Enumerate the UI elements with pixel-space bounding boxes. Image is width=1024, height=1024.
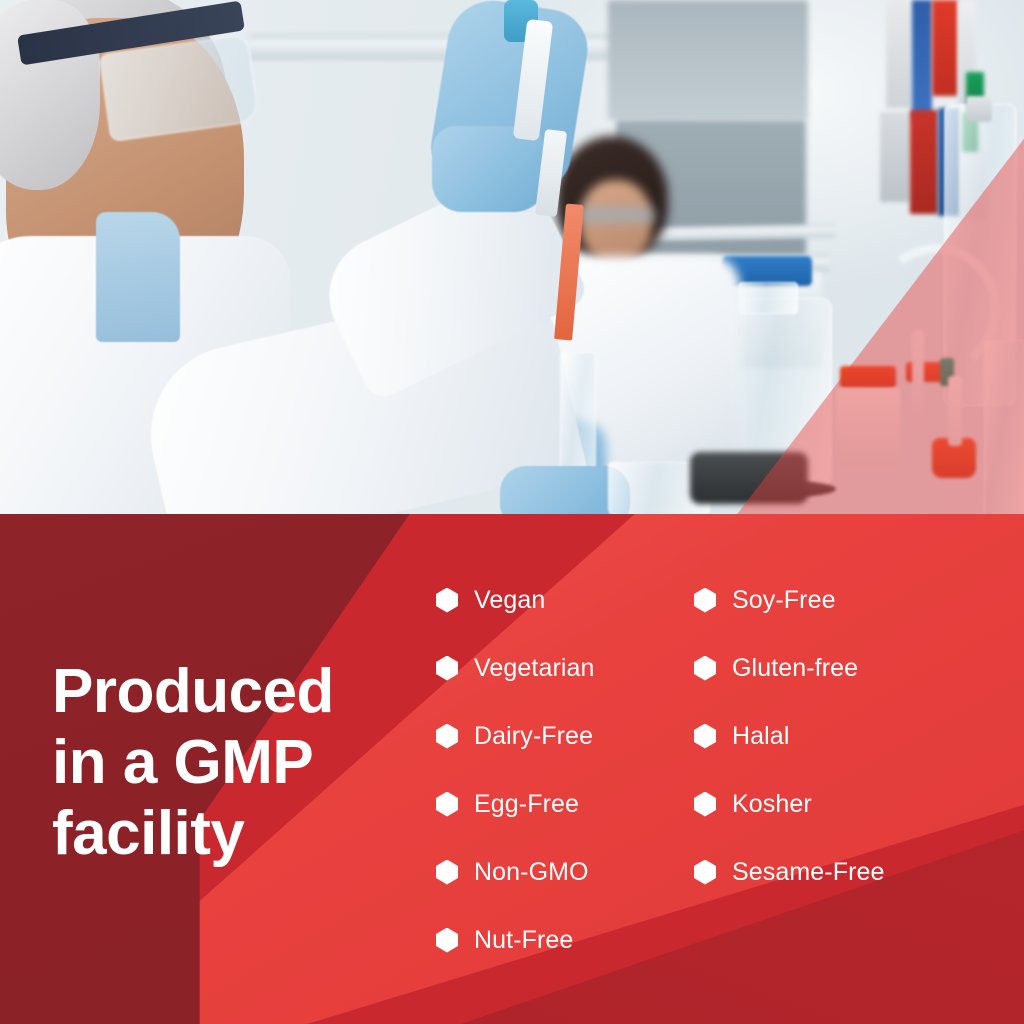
tubing-straight <box>912 330 924 426</box>
hexagon-icon <box>694 656 716 681</box>
shelf-box <box>886 0 912 108</box>
hexagon-icon <box>694 588 716 613</box>
hexagon-icon <box>436 792 458 817</box>
bottle-shoulder <box>738 282 798 314</box>
hexagon-icon <box>694 724 716 749</box>
shelf-box-blue <box>912 0 932 120</box>
red-content-panel: Produced in a GMP facility Vegan Vegetar… <box>0 514 1024 1024</box>
list-item: Soy-Free <box>694 566 996 634</box>
page-title: Produced in a GMP facility <box>52 656 452 870</box>
rack-post <box>984 340 1024 514</box>
hexagon-icon <box>436 656 458 681</box>
bottle-neck <box>966 96 992 122</box>
shelf-box-red-2 <box>910 110 938 214</box>
cabinet-panel <box>608 0 808 120</box>
dark-lab-equipment <box>690 452 808 504</box>
badge-label: Non-GMO <box>474 858 589 887</box>
badge-label: Nut-Free <box>474 926 573 955</box>
list-item: Gluten-free <box>694 634 996 702</box>
badge-label: Vegetarian <box>474 654 595 683</box>
hexagon-icon <box>436 724 458 749</box>
badge-label: Kosher <box>732 790 812 819</box>
syringe-barrel <box>948 376 962 446</box>
badge-label: Dairy-Free <box>474 722 593 751</box>
badge-label: Gluten-free <box>732 654 858 683</box>
badge-column-right: Soy-Free Gluten-free Halal Kosher Sesame… <box>694 566 996 974</box>
lab-photo <box>0 0 1024 514</box>
badge-label: Egg-Free <box>474 790 579 819</box>
badge-label: Vegan <box>474 586 545 615</box>
certification-badge-grid: Vegan Vegetarian Dairy-Free Egg-Free Non… <box>436 566 996 974</box>
shelf-box-2 <box>880 112 910 202</box>
hexagon-icon <box>436 860 458 885</box>
hexagon-icon <box>436 928 458 953</box>
list-item: Non-GMO <box>436 838 694 906</box>
list-item: Halal <box>694 702 996 770</box>
marketing-graphic-canvas: Produced in a GMP facility Vegan Vegetar… <box>0 0 1024 1024</box>
hexagon-icon <box>694 792 716 817</box>
list-item: Egg-Free <box>436 770 694 838</box>
list-item: Dairy-Free <box>436 702 694 770</box>
list-item: Kosher <box>694 770 996 838</box>
badge-label: Soy-Free <box>732 586 836 615</box>
list-item: Vegan <box>436 566 694 634</box>
badge-label: Halal <box>732 722 789 751</box>
list-item: Vegetarian <box>436 634 694 702</box>
white-container-1 <box>836 388 900 468</box>
hexagon-icon <box>694 860 716 885</box>
orange-cap-1 <box>840 366 896 388</box>
badge-label: Sesame-Free <box>732 858 885 887</box>
list-item: Nut-Free <box>436 906 694 974</box>
badge-column-left: Vegan Vegetarian Dairy-Free Egg-Free Non… <box>436 566 694 974</box>
hexagon-icon <box>436 588 458 613</box>
scientist-shirt-collar <box>96 212 180 342</box>
list-item: Sesame-Free <box>694 838 996 906</box>
background-person-goggles <box>578 206 656 224</box>
shelf-box-red <box>932 0 958 96</box>
